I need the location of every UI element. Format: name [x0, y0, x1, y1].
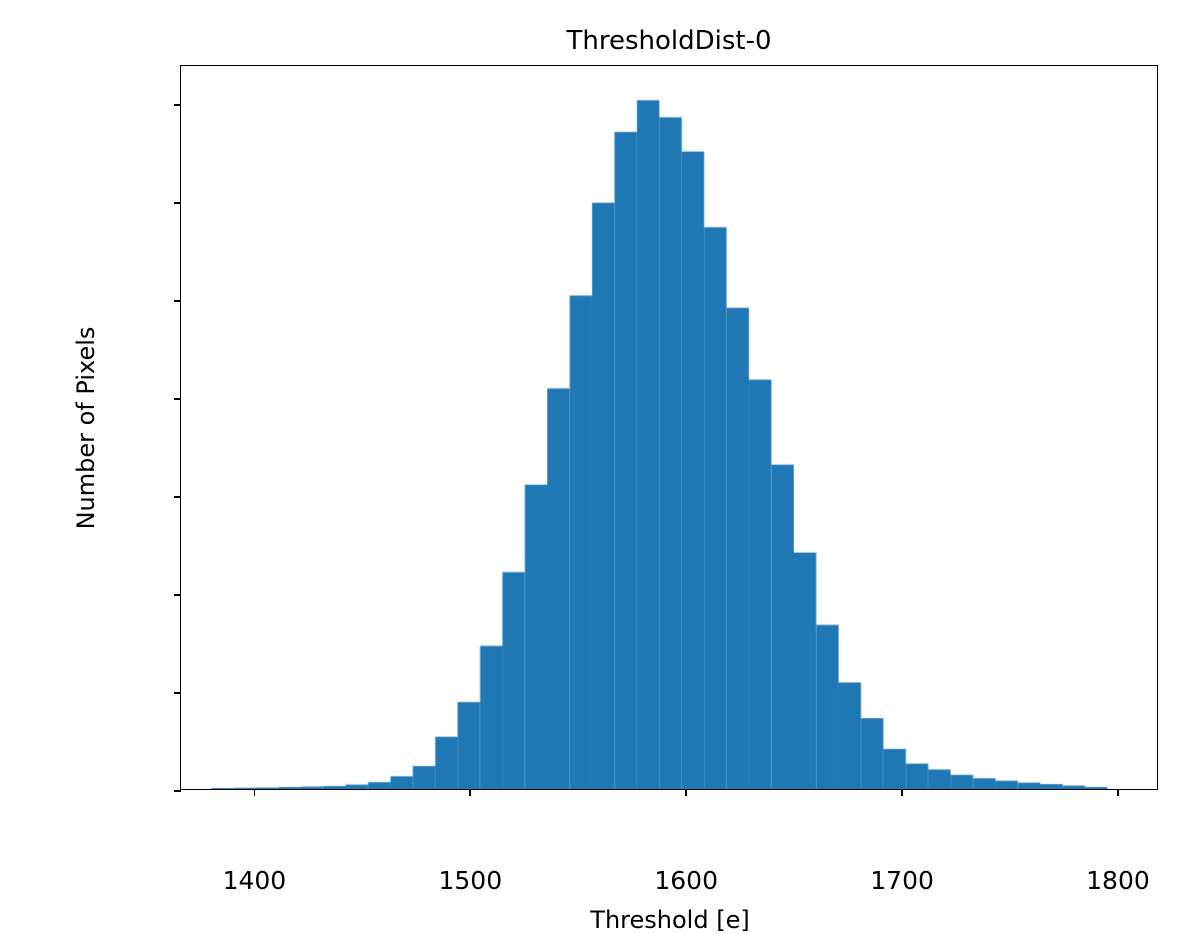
plot-axes: 02000400060008000100001200014000 1400150… [180, 65, 1158, 790]
y-tick-mark [174, 398, 181, 400]
y-tick-mark [174, 202, 181, 204]
figure-canvas: ThresholdDist-0 020004000600080001000012… [0, 0, 1200, 900]
y-tick-mark [174, 496, 181, 498]
x-tick-label: 1600 [654, 866, 718, 895]
x-tick-label: 1400 [223, 866, 287, 895]
x-tick-label: 1700 [870, 866, 934, 895]
histogram-plot [181, 66, 1157, 789]
x-tick-mark [254, 789, 256, 796]
y-axis-label: Number of Pixels [72, 326, 100, 529]
y-tick-mark [174, 104, 181, 106]
x-tick-mark [469, 789, 471, 796]
y-tick-mark [174, 300, 181, 302]
x-tick-mark [685, 789, 687, 796]
x-axis-label: Threshold [e] [181, 906, 1159, 934]
page-title: ThresholdDist-0 [69, 26, 1200, 56]
x-tick-mark [901, 789, 903, 796]
x-tick-label: 1800 [1086, 866, 1150, 895]
y-tick-mark [174, 790, 181, 792]
y-tick-mark [174, 594, 181, 596]
x-tick-label: 1500 [438, 866, 502, 895]
y-tick-mark [174, 692, 181, 694]
x-tick-mark [1117, 789, 1119, 796]
